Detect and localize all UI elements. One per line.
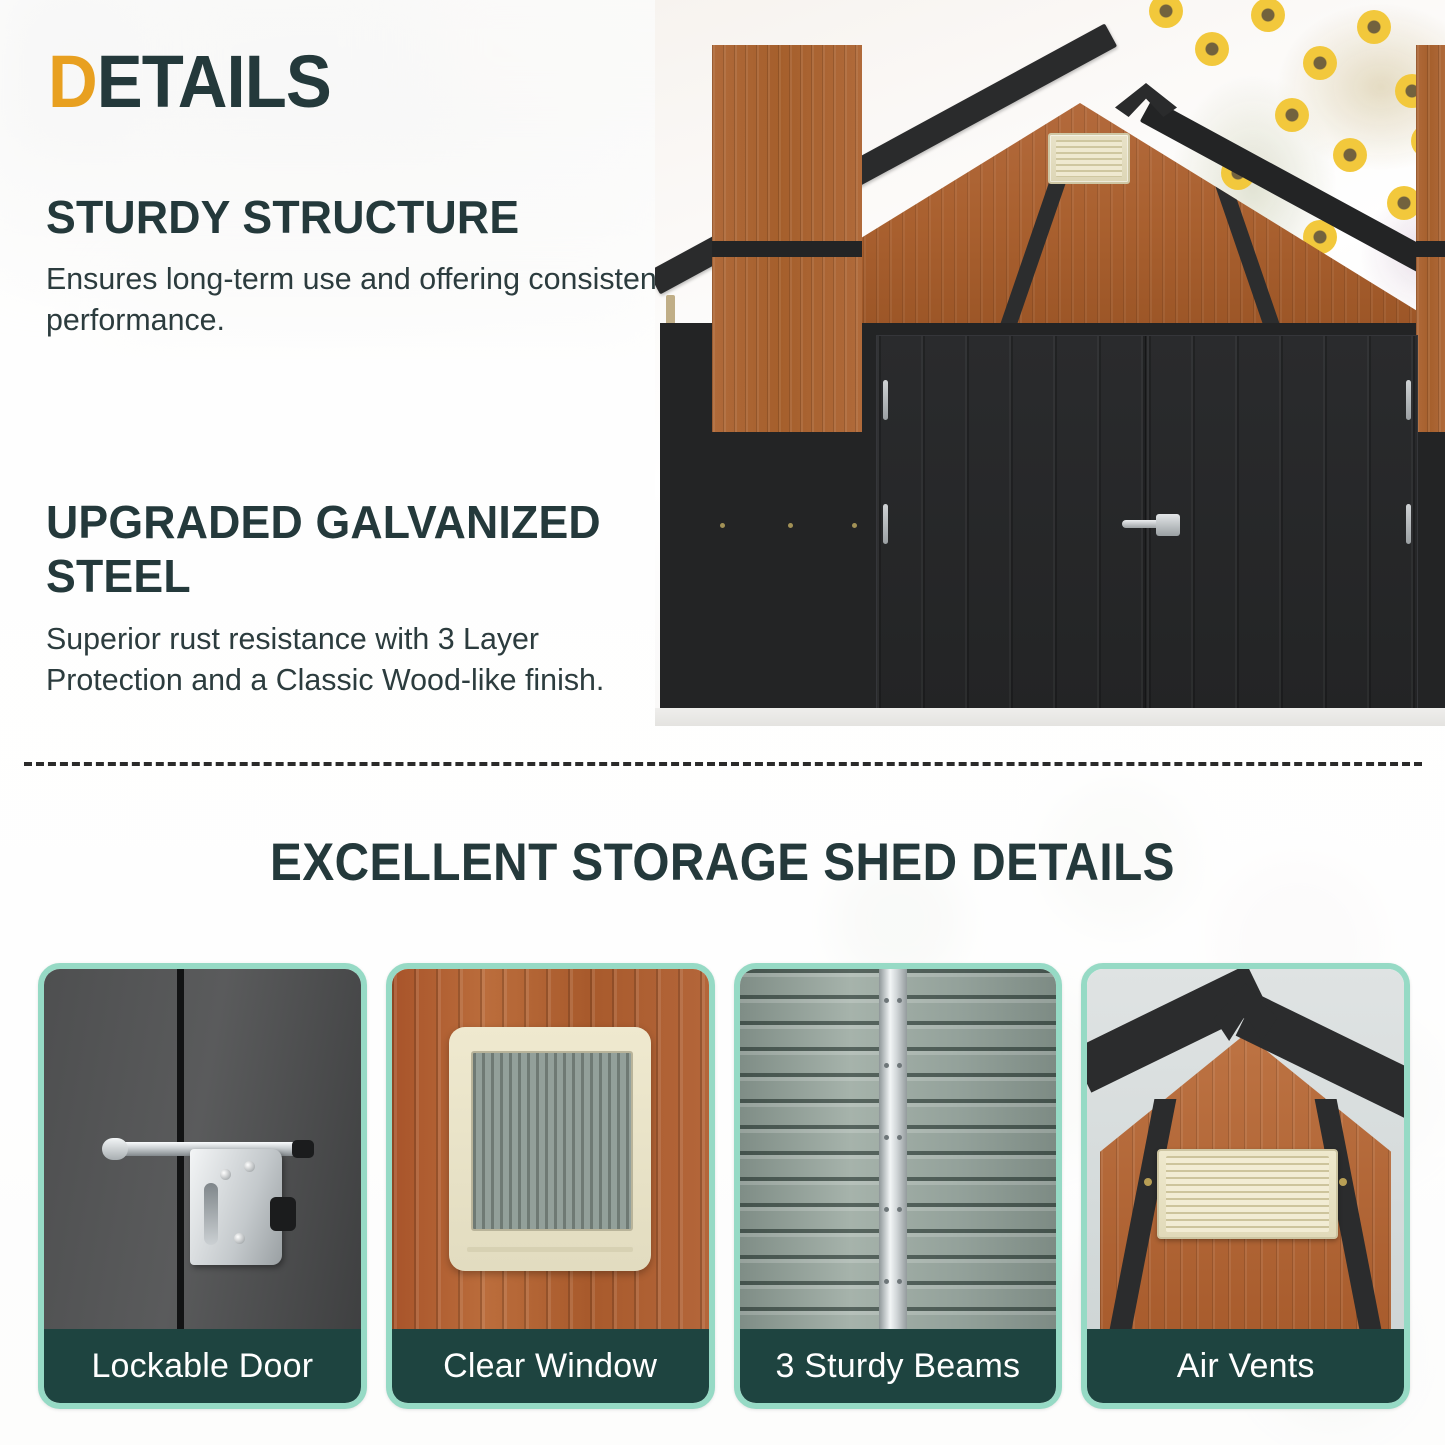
detail-card-grid: Lockable Door Clear Window <box>38 963 1410 1409</box>
screw-icon <box>897 1063 902 1068</box>
window-sill <box>467 1247 633 1252</box>
detail-card-clear-window[interactable]: Clear Window <box>386 963 715 1409</box>
feature-heading: UPGRADED GALVANIZED STEEL <box>46 495 667 604</box>
wall-rail-left <box>712 241 862 257</box>
card-media-beams <box>740 969 1057 1329</box>
feature-body: Ensures long-term use and offering consi… <box>46 258 673 340</box>
feature-block-sturdy-structure: STURDY STRUCTURE Ensures long-term use a… <box>46 190 686 341</box>
screw-icon <box>884 1063 889 1068</box>
wood-siding-surface <box>392 969 709 1329</box>
screw-icon <box>720 523 725 528</box>
air-vent-icon <box>1157 1149 1338 1239</box>
shed-double-doors[interactable] <box>876 335 1418 712</box>
wood-panel-right <box>1416 45 1445 432</box>
screw-icon <box>234 1233 245 1244</box>
screw-icon <box>884 1279 889 1284</box>
ground-strip <box>655 708 1445 726</box>
screw-icon <box>1339 1178 1347 1186</box>
door-latch-icon[interactable] <box>1122 514 1180 536</box>
screw-icon <box>897 1207 902 1212</box>
wood-panel-left <box>712 45 862 432</box>
hinge-icon <box>883 504 888 544</box>
window-glass <box>471 1051 633 1231</box>
card-caption: Clear Window <box>392 1329 709 1403</box>
screw-icon <box>220 1169 231 1180</box>
hasp-tab <box>270 1197 296 1231</box>
feature-block-galvanized-steel: UPGRADED GALVANIZED STEEL Superior rust … <box>46 495 686 700</box>
hinge-icon <box>1406 504 1411 544</box>
bolt-knob <box>102 1138 128 1160</box>
detail-card-air-vents[interactable]: Air Vents <box>1081 963 1410 1409</box>
screw-icon <box>244 1161 255 1172</box>
card-caption: 3 Sturdy Beams <box>740 1329 1057 1403</box>
card-media-door-latch <box>44 969 361 1329</box>
flower-icon <box>1357 10 1391 44</box>
hinge-icon <box>1406 380 1411 420</box>
detail-card-lockable-door[interactable]: Lockable Door <box>38 963 367 1409</box>
window-frame <box>449 1027 652 1272</box>
page-title-rest: ETAILS <box>97 40 331 123</box>
dashed-divider <box>24 762 1422 766</box>
padlock-slot <box>204 1183 218 1245</box>
door-right[interactable] <box>1147 336 1417 711</box>
page-title-accent-letter: D <box>48 40 97 123</box>
screw-icon <box>897 1135 902 1140</box>
card-media-air-vent <box>1087 969 1404 1329</box>
door-surface <box>44 969 361 1329</box>
screw-icon <box>788 523 793 528</box>
gable-scene <box>1087 969 1404 1329</box>
interior-wall-surface <box>740 969 1057 1329</box>
support-beam-icon <box>879 969 908 1329</box>
shed-structure <box>660 45 1445 710</box>
card-caption: Air Vents <box>1087 1329 1404 1403</box>
wall-rail-right <box>1416 241 1445 257</box>
detail-card-sturdy-beams[interactable]: 3 Sturdy Beams <box>734 963 1063 1409</box>
screw-icon <box>884 998 889 1003</box>
section-title: EXCELLENT STORAGE SHED DETAILS <box>72 832 1373 893</box>
feature-heading: STURDY STRUCTURE <box>46 190 667 244</box>
card-media-window <box>392 969 709 1329</box>
hero-shed-image <box>655 0 1445 726</box>
screw-icon <box>884 1207 889 1212</box>
screw-icon <box>897 1279 902 1284</box>
hinge-icon <box>883 380 888 420</box>
bolt-cap <box>292 1140 314 1158</box>
door-left[interactable] <box>877 336 1146 711</box>
screw-icon <box>852 523 857 528</box>
latch-body <box>1156 514 1180 536</box>
lock-hasp-icon <box>190 1149 282 1265</box>
air-vent-icon <box>1048 133 1130 184</box>
feature-body: Superior rust resistance with 3 Layer Pr… <box>46 618 673 700</box>
screw-icon <box>884 1135 889 1140</box>
page-title: DETAILS <box>48 45 331 119</box>
screw-icon <box>897 998 902 1003</box>
card-caption: Lockable Door <box>44 1329 361 1403</box>
